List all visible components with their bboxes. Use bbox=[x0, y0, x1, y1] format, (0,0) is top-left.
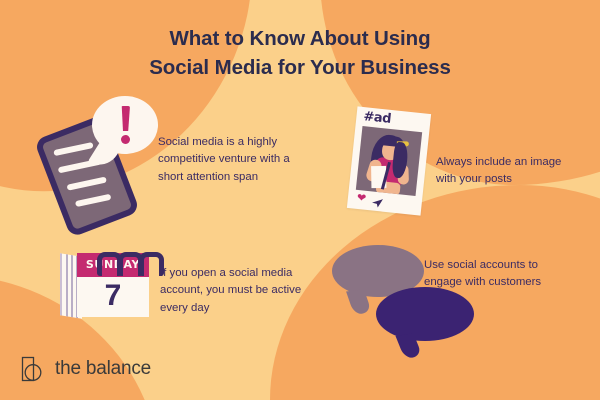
alert-speech-bubble-icon bbox=[92, 96, 158, 154]
calendar-date-sheet: 7 bbox=[77, 277, 149, 317]
calendar-page-edge bbox=[66, 254, 68, 316]
tip-text-post-daily: If you open a social media account, you … bbox=[160, 265, 310, 317]
brand-logo-text: the balance bbox=[55, 358, 151, 380]
page-title-line-1: What to Know About Using bbox=[0, 24, 600, 53]
infographic-canvas: What to Know About Using Social Media fo… bbox=[0, 0, 600, 400]
tip-text-attention-span: Social media is a highly competitive ven… bbox=[158, 134, 298, 186]
calendar-body: SUNDAY 7 bbox=[77, 253, 149, 317]
illustration-polaroid-ad-photo: #ad ❤ bbox=[347, 106, 431, 215]
illustration-phone-with-alert bbox=[44, 96, 164, 214]
exclamation-mark-dot bbox=[121, 135, 130, 144]
page-title: What to Know About Using Social Media fo… bbox=[0, 24, 600, 82]
phone-text-line bbox=[53, 142, 93, 156]
tip-text-engage-customers: Use social accounts to engage with custo… bbox=[424, 257, 574, 292]
phone-text-line bbox=[67, 177, 107, 191]
heart-icon: ❤ bbox=[356, 193, 368, 204]
illustration-desk-calendar: SUNDAY 7 bbox=[60, 243, 166, 325]
calendar-date-number: 7 bbox=[77, 276, 149, 316]
tip-text-include-image: Always include an image with your posts bbox=[436, 154, 572, 189]
hashtag-ad-label: #ad bbox=[363, 109, 392, 127]
phone-text-line bbox=[75, 194, 111, 207]
brand-logo[interactable]: the balance bbox=[20, 356, 151, 382]
speech-bubble-dark-icon bbox=[376, 287, 474, 341]
balance-logo-mark-icon bbox=[20, 356, 46, 382]
exclamation-mark-stem bbox=[121, 106, 130, 131]
calendar-page-edge bbox=[71, 255, 73, 317]
photo-area bbox=[356, 126, 422, 196]
share-icon bbox=[371, 194, 384, 205]
page-title-line-2: Social Media for Your Business bbox=[0, 53, 600, 82]
speech-bubble-tail bbox=[346, 289, 372, 314]
